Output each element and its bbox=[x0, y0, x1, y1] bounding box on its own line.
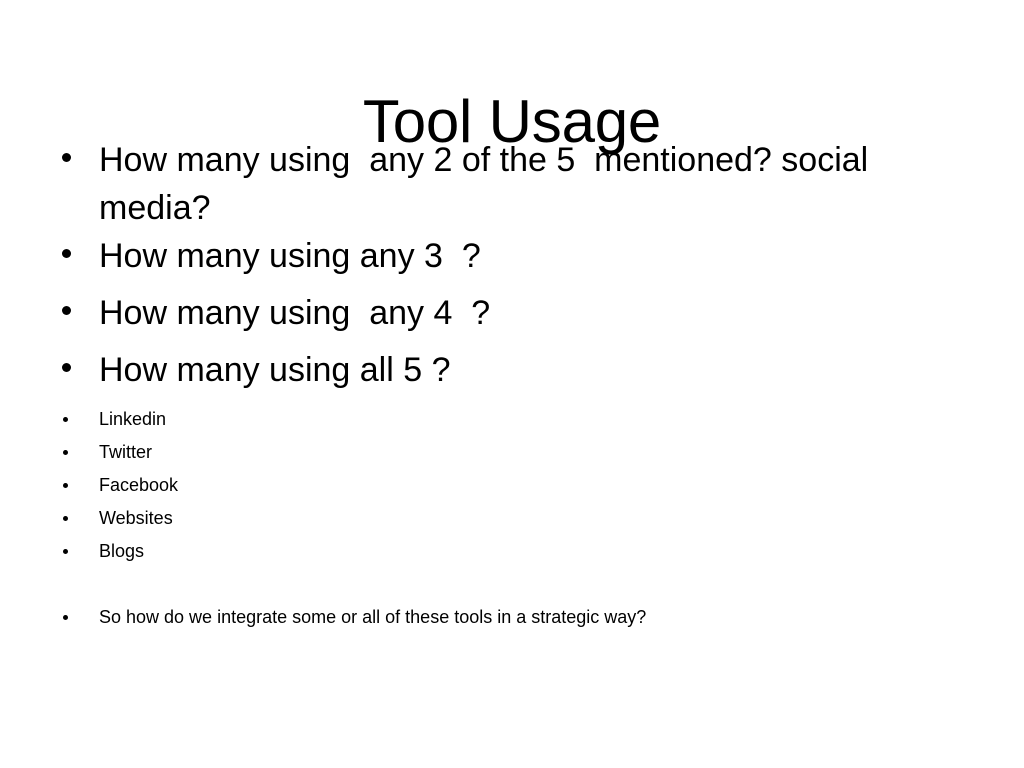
sub-list-item-label: Websites bbox=[99, 502, 1024, 535]
bullet-point-icon bbox=[63, 417, 68, 422]
list-item-label: How many using any 4 ? bbox=[99, 289, 899, 337]
sub-list-item-label: Linkedin bbox=[99, 403, 1024, 436]
closing-list-item: So how do we integrate some or all of th… bbox=[0, 601, 1024, 634]
list-item: How many using all 5 ? bbox=[0, 346, 1024, 403]
bullet-point-icon bbox=[63, 483, 68, 488]
sub-list-item: Linkedin bbox=[0, 403, 1024, 436]
bullet-point-icon bbox=[63, 549, 68, 554]
bullet-point-icon bbox=[63, 615, 68, 620]
sub-list-item: Websites bbox=[0, 502, 1024, 535]
sub-list-item-label: Twitter bbox=[99, 436, 1024, 469]
bullet-point-icon bbox=[62, 249, 71, 258]
sub-list-item: Blogs bbox=[0, 535, 1024, 568]
sub-list-item: Facebook bbox=[0, 469, 1024, 502]
sub-list-item-label: Blogs bbox=[99, 535, 1024, 568]
sub-list-item-label: Facebook bbox=[99, 469, 1024, 502]
list-item: How many using any 4 ? bbox=[0, 289, 1024, 346]
list-item: How many using any 3 ? bbox=[0, 232, 1024, 289]
list-item-label: How many using all 5 ? bbox=[99, 346, 899, 394]
sub-list-item: Twitter bbox=[0, 436, 1024, 469]
list-spacer bbox=[0, 568, 1024, 601]
list-item-label: How many using any 2 of the 5 mentioned?… bbox=[99, 136, 899, 232]
slide: Tool Usage How many using any 2 of the 5… bbox=[0, 0, 1024, 768]
slide-body: How many using any 2 of the 5 mentioned?… bbox=[0, 136, 1024, 634]
list-item: How many using any 2 of the 5 mentioned?… bbox=[0, 136, 1024, 232]
bullet-point-icon bbox=[63, 516, 68, 521]
closing-list-item-label: So how do we integrate some or all of th… bbox=[99, 601, 1024, 634]
bullet-point-icon bbox=[62, 363, 71, 372]
bullet-point-icon bbox=[62, 306, 71, 315]
bullet-point-icon bbox=[63, 450, 68, 455]
list-item-label: How many using any 3 ? bbox=[99, 232, 899, 280]
bullet-point-icon bbox=[62, 153, 71, 162]
